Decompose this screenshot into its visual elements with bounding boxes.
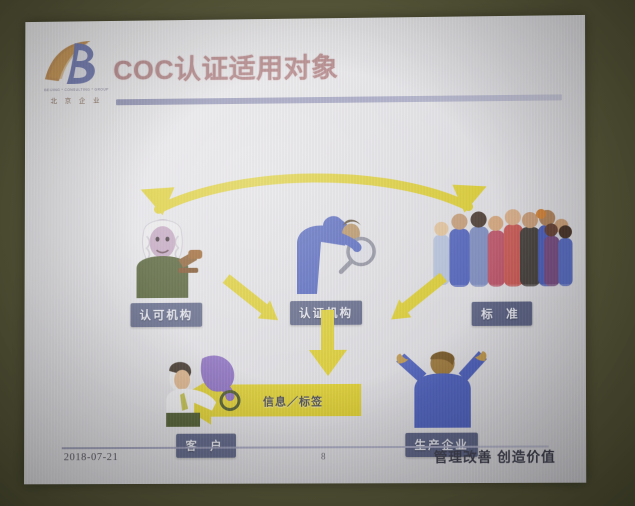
node-customer: 客 户 [141,352,271,457]
footer-date: 2018-07-21 [64,452,119,463]
footer-page-number: 8 [321,451,326,461]
producer-figure-icon [386,347,497,428]
node-customer-label: 客 户 [176,434,235,458]
node-accreditation-label: 认可机构 [131,303,203,327]
presentation-slide: BEIJING * CONSULTING * GROUP 北 京 企 业 COC… [24,15,586,484]
logo-brand-en: BEIJING * CONSULTING * GROUP [41,86,112,93]
arrow-certification-down [305,310,351,380]
arrow-accreditation-to-certification [218,270,298,331]
node-accreditation: 认可机构 [102,206,231,327]
node-standard-label: 标 准 [472,301,532,325]
node-producer: 生产企业 [371,347,512,457]
arrow-information-label-text: 信息／标签 [263,393,323,409]
logo-brand-cn: 北 京 企 业 [41,94,112,105]
coc-flow-diagram: 认可机构 认证机构 [24,107,586,431]
title-underline-bar [116,94,562,105]
customer-figure-icon [154,352,258,429]
judge-with-gavel-icon [119,206,215,298]
page-title: COC认证适用对象 [113,46,338,87]
b-swoosh-icon [41,35,112,91]
arrow-standard-to-certification [373,269,453,330]
footer-slogan: 管理改善 创造价值 [434,445,556,466]
company-logo: BEIJING * CONSULTING * GROUP 北 京 企 业 [41,35,112,113]
projector-photo: BEIJING * CONSULTING * GROUP 北 京 企 业 COC… [0,0,635,506]
